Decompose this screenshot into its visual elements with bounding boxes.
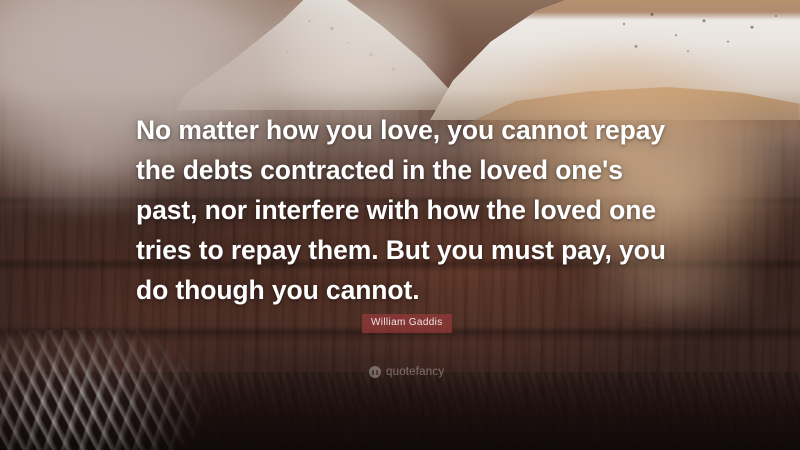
poster-content: No matter how you love, you cannot repay… [0,0,800,450]
quote-text: No matter how you love, you cannot repay… [136,110,666,310]
watermark-label: quotefancy [386,366,444,378]
quotefancy-logo-icon [369,366,381,378]
author-badge: William Gaddis [362,314,452,333]
quote-poster: No matter how you love, you cannot repay… [0,0,800,450]
watermark: quotefancy [369,366,444,378]
